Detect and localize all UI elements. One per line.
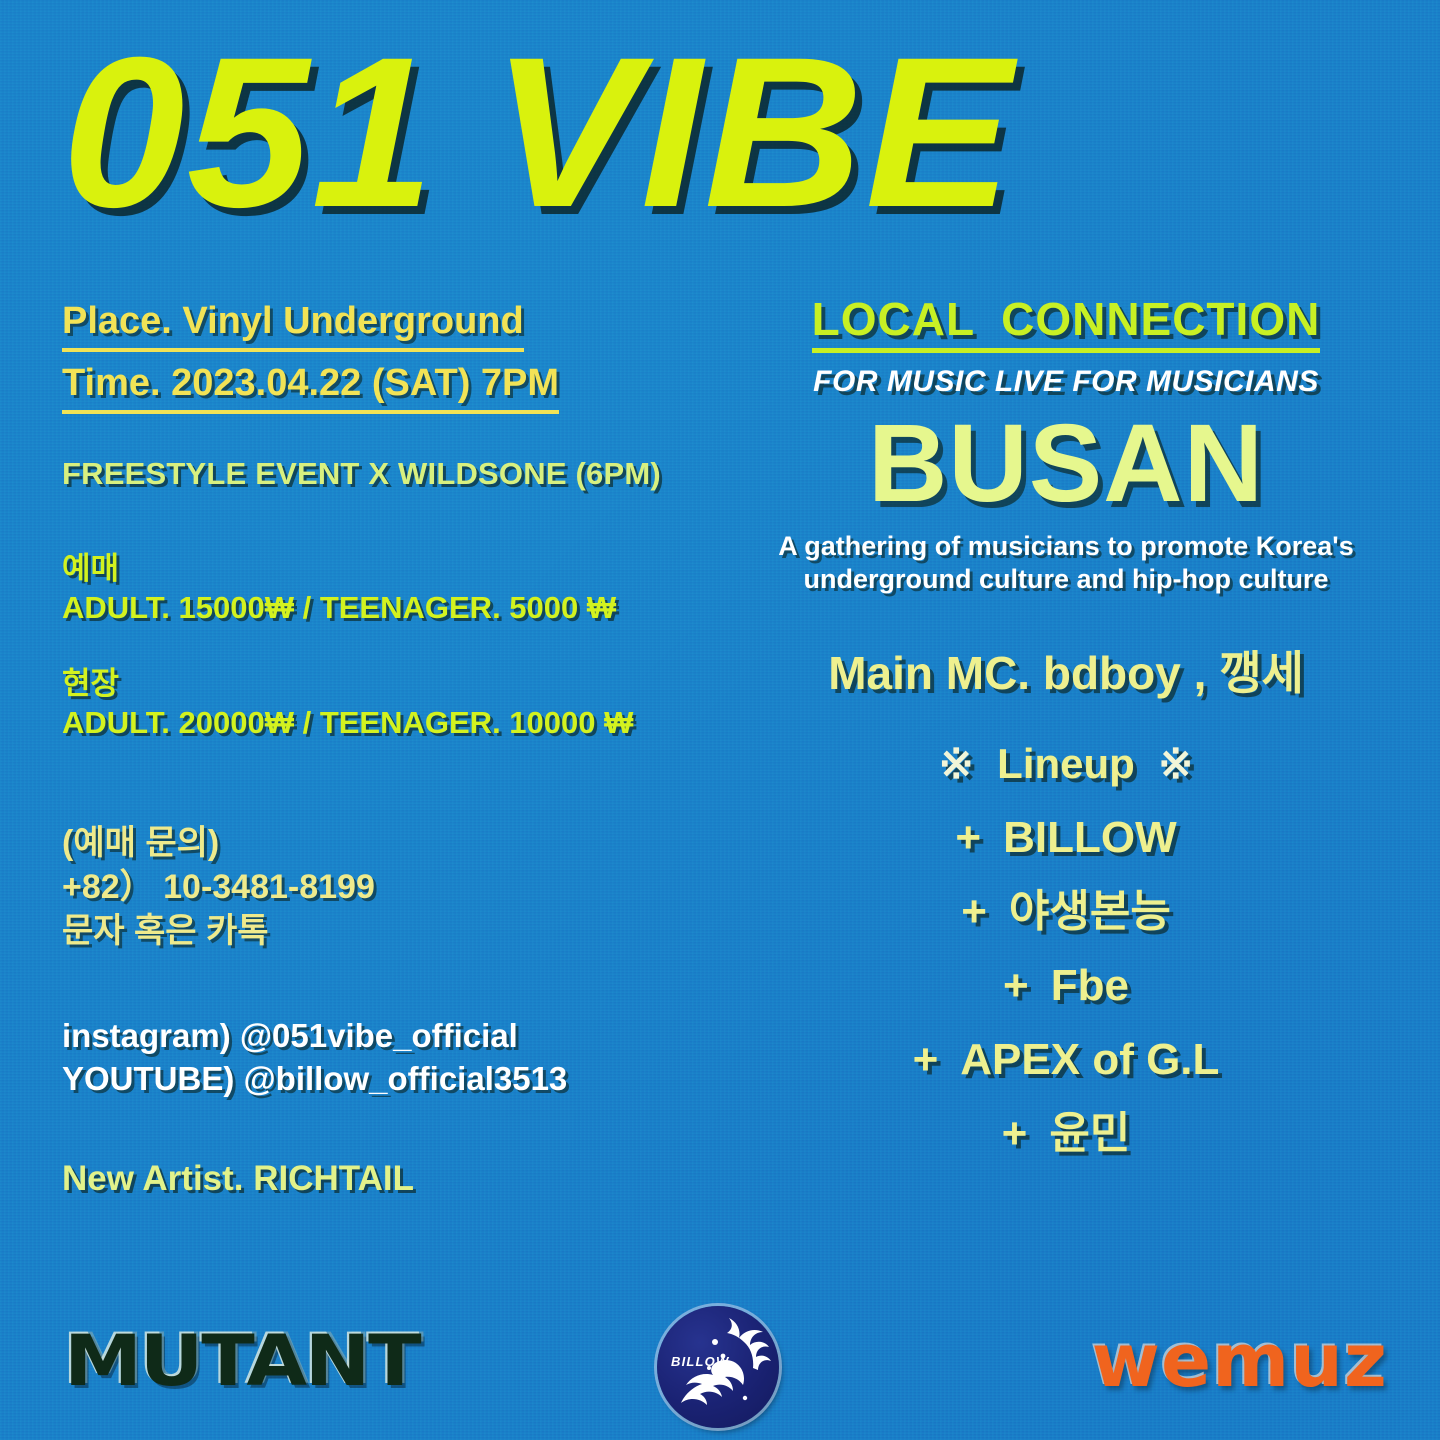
plus-icon: +: [1002, 1112, 1028, 1156]
advance-label: 예매: [62, 550, 742, 589]
instagram-handle[interactable]: instagram) @051vibe_official: [62, 1015, 742, 1058]
reference-mark-icon: ※: [939, 740, 974, 787]
advance-price-block: 예매 ADULT. 15000₩ / TEENAGER. 5000 ₩: [62, 550, 742, 628]
title-word: VIBE: [492, 13, 1015, 252]
description: A gathering of musicians to promote Kore…: [742, 530, 1390, 597]
list-item: + Fbe: [1003, 964, 1129, 1008]
local-connection-heading: LOCALCONNECTION: [812, 292, 1321, 353]
billow-logo: BILLOW: [657, 1306, 779, 1428]
list-item: + APEX of G.L: [913, 1038, 1220, 1082]
sponsor-logo-bar: MUTANT BILLOW: [0, 1298, 1440, 1440]
wemuz-logo: wemuz: [1092, 1318, 1388, 1404]
title-number: 051: [62, 13, 436, 252]
right-info-column: LOCALCONNECTION FOR MUSIC LIVE FOR MUSIC…: [742, 292, 1390, 1186]
contact-note: 문자 혹은 카톡: [62, 909, 742, 953]
tagline: FOR MUSIC LIVE FOR MUSICIANS: [742, 365, 1390, 399]
plus-icon: +: [913, 1038, 939, 1082]
billow-logo-text: BILLOW: [671, 1354, 729, 1369]
lineup-artist-name: APEX of G.L: [960, 1038, 1219, 1082]
description-line-1: A gathering of musicians to promote Kore…: [742, 530, 1390, 563]
lineup-heading: ※ Lineup ※: [742, 739, 1390, 788]
datetime-line: Time. 2023.04.22 (SAT) 7PM: [62, 358, 559, 414]
mutant-logo: MUTANT: [64, 1320, 419, 1402]
poster-title: 051VIBE: [62, 26, 1432, 240]
local-word: LOCAL: [812, 293, 975, 345]
contact-label: (예매 문의): [62, 821, 742, 865]
door-label: 현장: [62, 665, 742, 704]
door-price-block: 현장 ADULT. 20000₩ / TEENAGER. 10000 ₩: [62, 665, 742, 743]
contact-phone[interactable]: +82） 10-3481-8199: [62, 865, 742, 909]
contact-block: (예매 문의) +82） 10-3481-8199 문자 혹은 카톡: [62, 821, 742, 954]
advance-price: ADULT. 15000₩ / TEENAGER. 5000 ₩: [62, 589, 742, 628]
main-mc-line: Main MC. bdboy , 깽세: [742, 637, 1390, 703]
city-name: BUSAN: [742, 405, 1390, 524]
list-item: + 윤민: [1002, 1112, 1131, 1156]
lineup-artist-name: 윤민: [1049, 1112, 1130, 1156]
door-price: ADULT. 20000₩ / TEENAGER. 10000 ₩: [62, 704, 742, 743]
lineup-title: Lineup: [997, 740, 1135, 787]
left-info-column: Place. Vinyl Underground Time. 2023.04.2…: [62, 296, 742, 1199]
lineup-artist-name: 야생본능: [1009, 890, 1171, 934]
lineup-artist-name: BILLOW: [1003, 816, 1177, 860]
connection-word: CONNECTION: [1001, 293, 1320, 345]
new-artist-line: New Artist. RICHTAIL: [62, 1159, 742, 1199]
plus-icon: +: [1003, 964, 1029, 1008]
social-block: instagram) @051vibe_official YOUTUBE) @b…: [62, 1015, 742, 1101]
event-poster: 051VIBE Place. Vinyl Underground Time. 2…: [0, 0, 1440, 1440]
youtube-handle[interactable]: YOUTUBE) @billow_official3513: [62, 1058, 742, 1101]
description-line-2: underground culture and hip-hop culture: [742, 563, 1390, 596]
lineup-list: + BILLOW + 야생본능 + Fbe + APEX of G.L +: [742, 816, 1390, 1186]
list-item: + BILLOW: [955, 816, 1176, 860]
lineup-artist-name: Fbe: [1051, 964, 1129, 1008]
venue-line: Place. Vinyl Underground: [62, 296, 524, 352]
plus-icon: +: [961, 890, 987, 934]
plus-icon: +: [955, 816, 981, 860]
reference-mark-icon: ※: [1158, 740, 1193, 787]
freestyle-event-line: FREESTYLE EVENT X WILDSONE (6PM): [62, 456, 742, 492]
billow-logo-circle: BILLOW: [657, 1306, 779, 1428]
list-item: + 야생본능: [961, 890, 1171, 934]
